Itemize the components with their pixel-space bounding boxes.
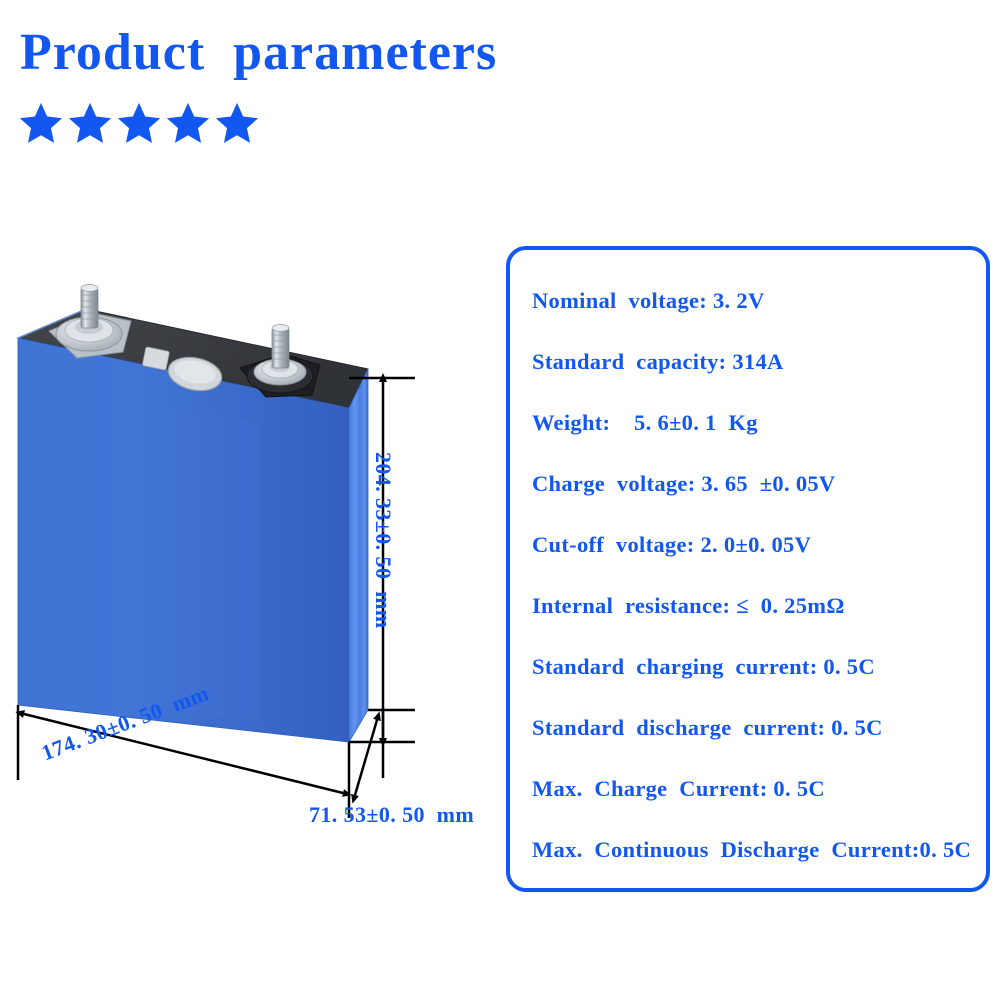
- star-icon: [165, 100, 211, 146]
- page-title: Product parameters: [20, 26, 497, 81]
- spec-standard-discharge-current: Standard discharge current: 0. 5C: [532, 697, 984, 758]
- spec-weight: Weight: 5. 6±0. 1 Kg: [532, 392, 984, 453]
- battery-front-face: [18, 338, 349, 742]
- star-icon: [67, 100, 113, 146]
- star-icon: [18, 100, 64, 146]
- spec-standard-capacity: Standard capacity: 314A: [532, 331, 984, 392]
- spec-nominal-voltage: Nominal voltage: 3. 2V: [532, 270, 984, 331]
- spec-max-continuous-discharge-current: Max. Continuous Discharge Current:0. 5C: [532, 819, 984, 880]
- battery-illustration: [0, 250, 500, 870]
- spec-standard-charging-current: Standard charging current: 0. 5C: [532, 636, 984, 697]
- specifications-panel: Nominal voltage: 3. 2V Standard capacity…: [506, 246, 990, 892]
- battery-product-image: [0, 250, 500, 870]
- star-icon: [214, 100, 260, 146]
- spec-charge-voltage: Charge voltage: 3. 65 ±0. 05V: [532, 453, 984, 514]
- dimension-depth: [355, 710, 415, 795]
- specifications-list: Nominal voltage: 3. 2V Standard capacity…: [532, 270, 984, 880]
- battery-side-face: [349, 369, 368, 742]
- spec-cutoff-voltage: Cut-off voltage: 2. 0±0. 05V: [532, 514, 984, 575]
- dimension-height-label: 204. 33±0. 50 mm: [370, 452, 396, 629]
- rating-stars: [18, 100, 260, 146]
- spec-internal-resistance: Internal resistance: ≤ 0. 25mΩ: [532, 575, 984, 636]
- dimension-depth-label: 71. 53±0. 50 mm: [309, 802, 474, 828]
- spec-max-charge-current: Max. Charge Current: 0. 5C: [532, 758, 984, 819]
- star-icon: [116, 100, 162, 146]
